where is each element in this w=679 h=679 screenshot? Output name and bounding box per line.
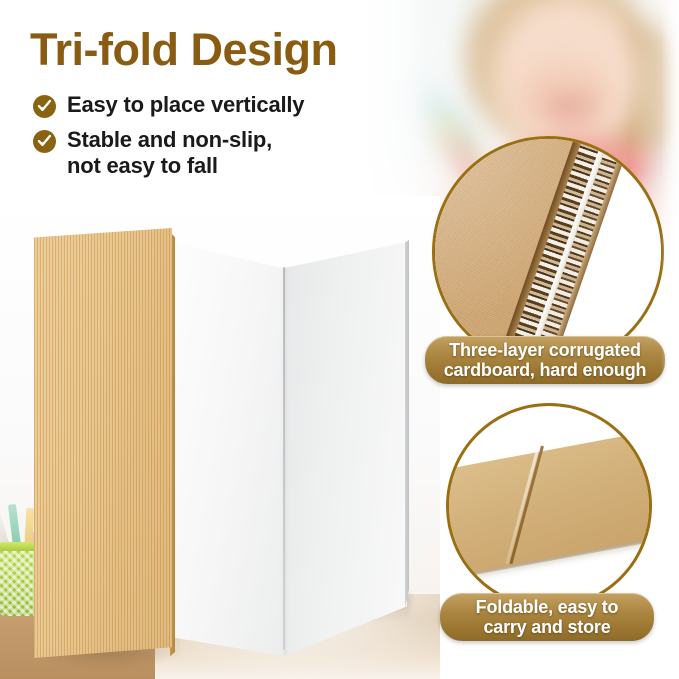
- board-panel-right: [284, 242, 407, 656]
- board-right-edge: [405, 240, 409, 608]
- check-circle-icon: [33, 130, 56, 153]
- board-panel-left-kraft: [34, 228, 172, 658]
- child-smile: [544, 94, 596, 120]
- page-title: Tri-fold Design: [30, 27, 338, 72]
- list-item-label: Stable and non-slip, not easy to fall: [67, 127, 272, 179]
- corrugated-sheet: [432, 136, 621, 368]
- feature-list: Easy to place vertically Stable and non-…: [33, 92, 403, 188]
- callout-corrugated-image: [432, 136, 664, 368]
- callout-corrugated-caption: Three-layer corrugated cardboard, hard e…: [425, 336, 665, 384]
- list-item-label: Easy to place vertically: [67, 92, 304, 118]
- list-item: Easy to place vertically: [33, 92, 403, 118]
- folded-board-photo: [449, 406, 649, 606]
- callout-foldable-caption: Foldable, easy to carry and store: [440, 593, 654, 641]
- product-infographic: Tri-fold Design Easy to place vertically…: [0, 0, 679, 679]
- corrugated-macro-photo: [435, 139, 661, 365]
- callout-foldable-image: [446, 403, 652, 609]
- folded-board-top: [446, 429, 652, 580]
- board-center-crease: [283, 267, 285, 650]
- hero-product-scene: [0, 196, 440, 679]
- check-circle-icon: [33, 95, 56, 118]
- list-item: Stable and non-slip, not easy to fall: [33, 127, 403, 179]
- board-panel-middle: [172, 242, 285, 656]
